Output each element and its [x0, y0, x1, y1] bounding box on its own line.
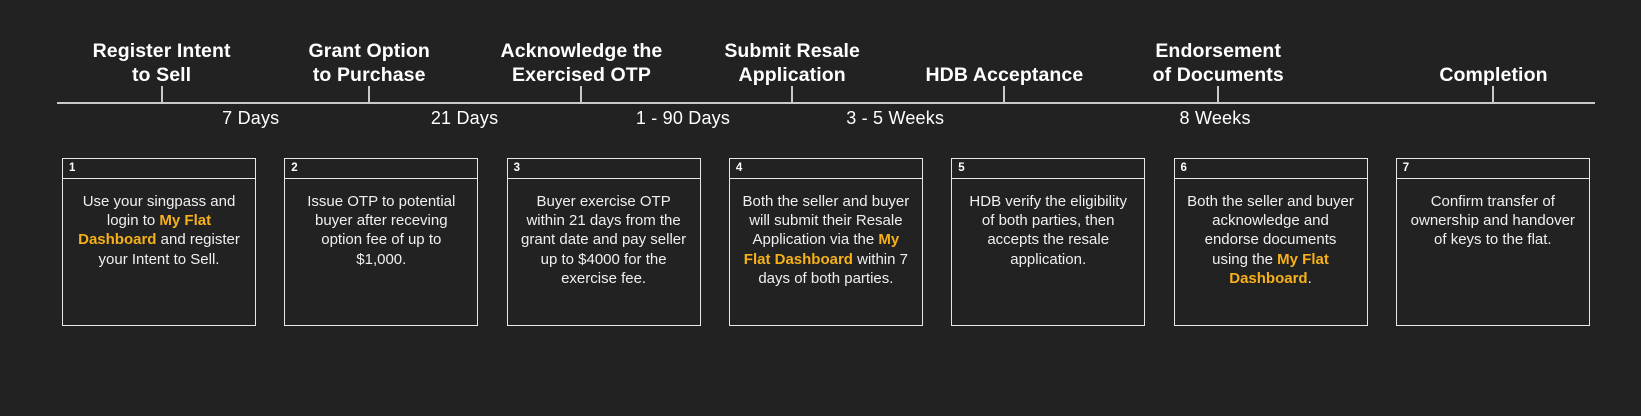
- milestone-headings: Register Intent to SellGrant Option to P…: [57, 0, 1595, 88]
- milestone-heading: Endorsement of Documents: [1153, 40, 1284, 88]
- step-card: 2Issue OTP to potential buyer after rece…: [284, 158, 478, 326]
- duration-label: 21 Days: [431, 108, 498, 129]
- step-number: 3: [514, 163, 520, 175]
- timeline: Register Intent to SellGrant Option to P…: [57, 0, 1595, 140]
- resale-process-timeline: Register Intent to SellGrant Option to P…: [0, 0, 1641, 416]
- step-card: 7Confirm transfer of ownership and hando…: [1396, 158, 1590, 326]
- duration-label: 7 Days: [222, 108, 279, 129]
- step-card-header: 6: [1175, 159, 1367, 179]
- milestone-heading: Submit Resale Application: [724, 40, 860, 88]
- step-number: 4: [736, 163, 742, 175]
- step-card-text: Use your singpass and login to My Flat D…: [63, 179, 255, 325]
- step-text-fragment: Issue OTP to potential buyer after recev…: [307, 193, 455, 268]
- step-card-text: Confirm transfer of ownership and handov…: [1397, 179, 1589, 325]
- step-number: 2: [291, 163, 297, 175]
- milestone-heading: Acknowledge the Exercised OTP: [501, 40, 663, 88]
- step-card-header: 4: [730, 159, 922, 179]
- step-card: 3Buyer exercise OTP within 21 days from …: [507, 158, 701, 326]
- step-card-text: Both the seller and buyer will submit th…: [730, 179, 922, 325]
- step-card-header: 1: [63, 159, 255, 179]
- step-card-header: 3: [508, 159, 700, 179]
- duration-labels: 7 Days21 Days1 - 90 Days3 - 5 Weeks8 Wee…: [57, 108, 1595, 138]
- step-card-header: 7: [1397, 159, 1589, 179]
- step-card: 6Both the seller and buyer acknowledge a…: [1174, 158, 1368, 326]
- milestone-heading: Register Intent to Sell: [93, 40, 231, 88]
- step-card-header: 5: [952, 159, 1144, 179]
- milestone-heading: Grant Option to Purchase: [308, 40, 429, 88]
- timeline-axis: [57, 102, 1595, 104]
- step-number: 7: [1403, 163, 1409, 175]
- duration-label: 3 - 5 Weeks: [846, 108, 944, 129]
- step-text-fragment: Both the seller and buyer acknowledge an…: [1187, 193, 1354, 268]
- step-text-fragment: .: [1308, 270, 1312, 287]
- step-number: 1: [69, 163, 75, 175]
- step-number: 6: [1181, 163, 1187, 175]
- step-cards: 1Use your singpass and login to My Flat …: [62, 158, 1590, 328]
- step-text-fragment: HDB verify the eligibility of both parti…: [969, 193, 1127, 268]
- duration-label: 8 Weeks: [1180, 108, 1251, 129]
- step-text-fragment: Confirm transfer of ownership and handov…: [1411, 193, 1575, 248]
- step-card-text: Both the seller and buyer acknowledge an…: [1175, 179, 1367, 325]
- step-card-header: 2: [285, 159, 477, 179]
- step-card: 4Both the seller and buyer will submit t…: [729, 158, 923, 326]
- duration-label: 1 - 90 Days: [636, 108, 730, 129]
- step-card: 5HDB verify the eligibility of both part…: [951, 158, 1145, 326]
- step-card-text: Buyer exercise OTP within 21 days from t…: [508, 179, 700, 325]
- step-text-fragment: Buyer exercise OTP within 21 days from t…: [521, 193, 686, 287]
- step-number: 5: [958, 163, 964, 175]
- step-card-text: Issue OTP to potential buyer after recev…: [285, 179, 477, 325]
- step-card-text: HDB verify the eligibility of both parti…: [952, 179, 1144, 325]
- step-card: 1Use your singpass and login to My Flat …: [62, 158, 256, 326]
